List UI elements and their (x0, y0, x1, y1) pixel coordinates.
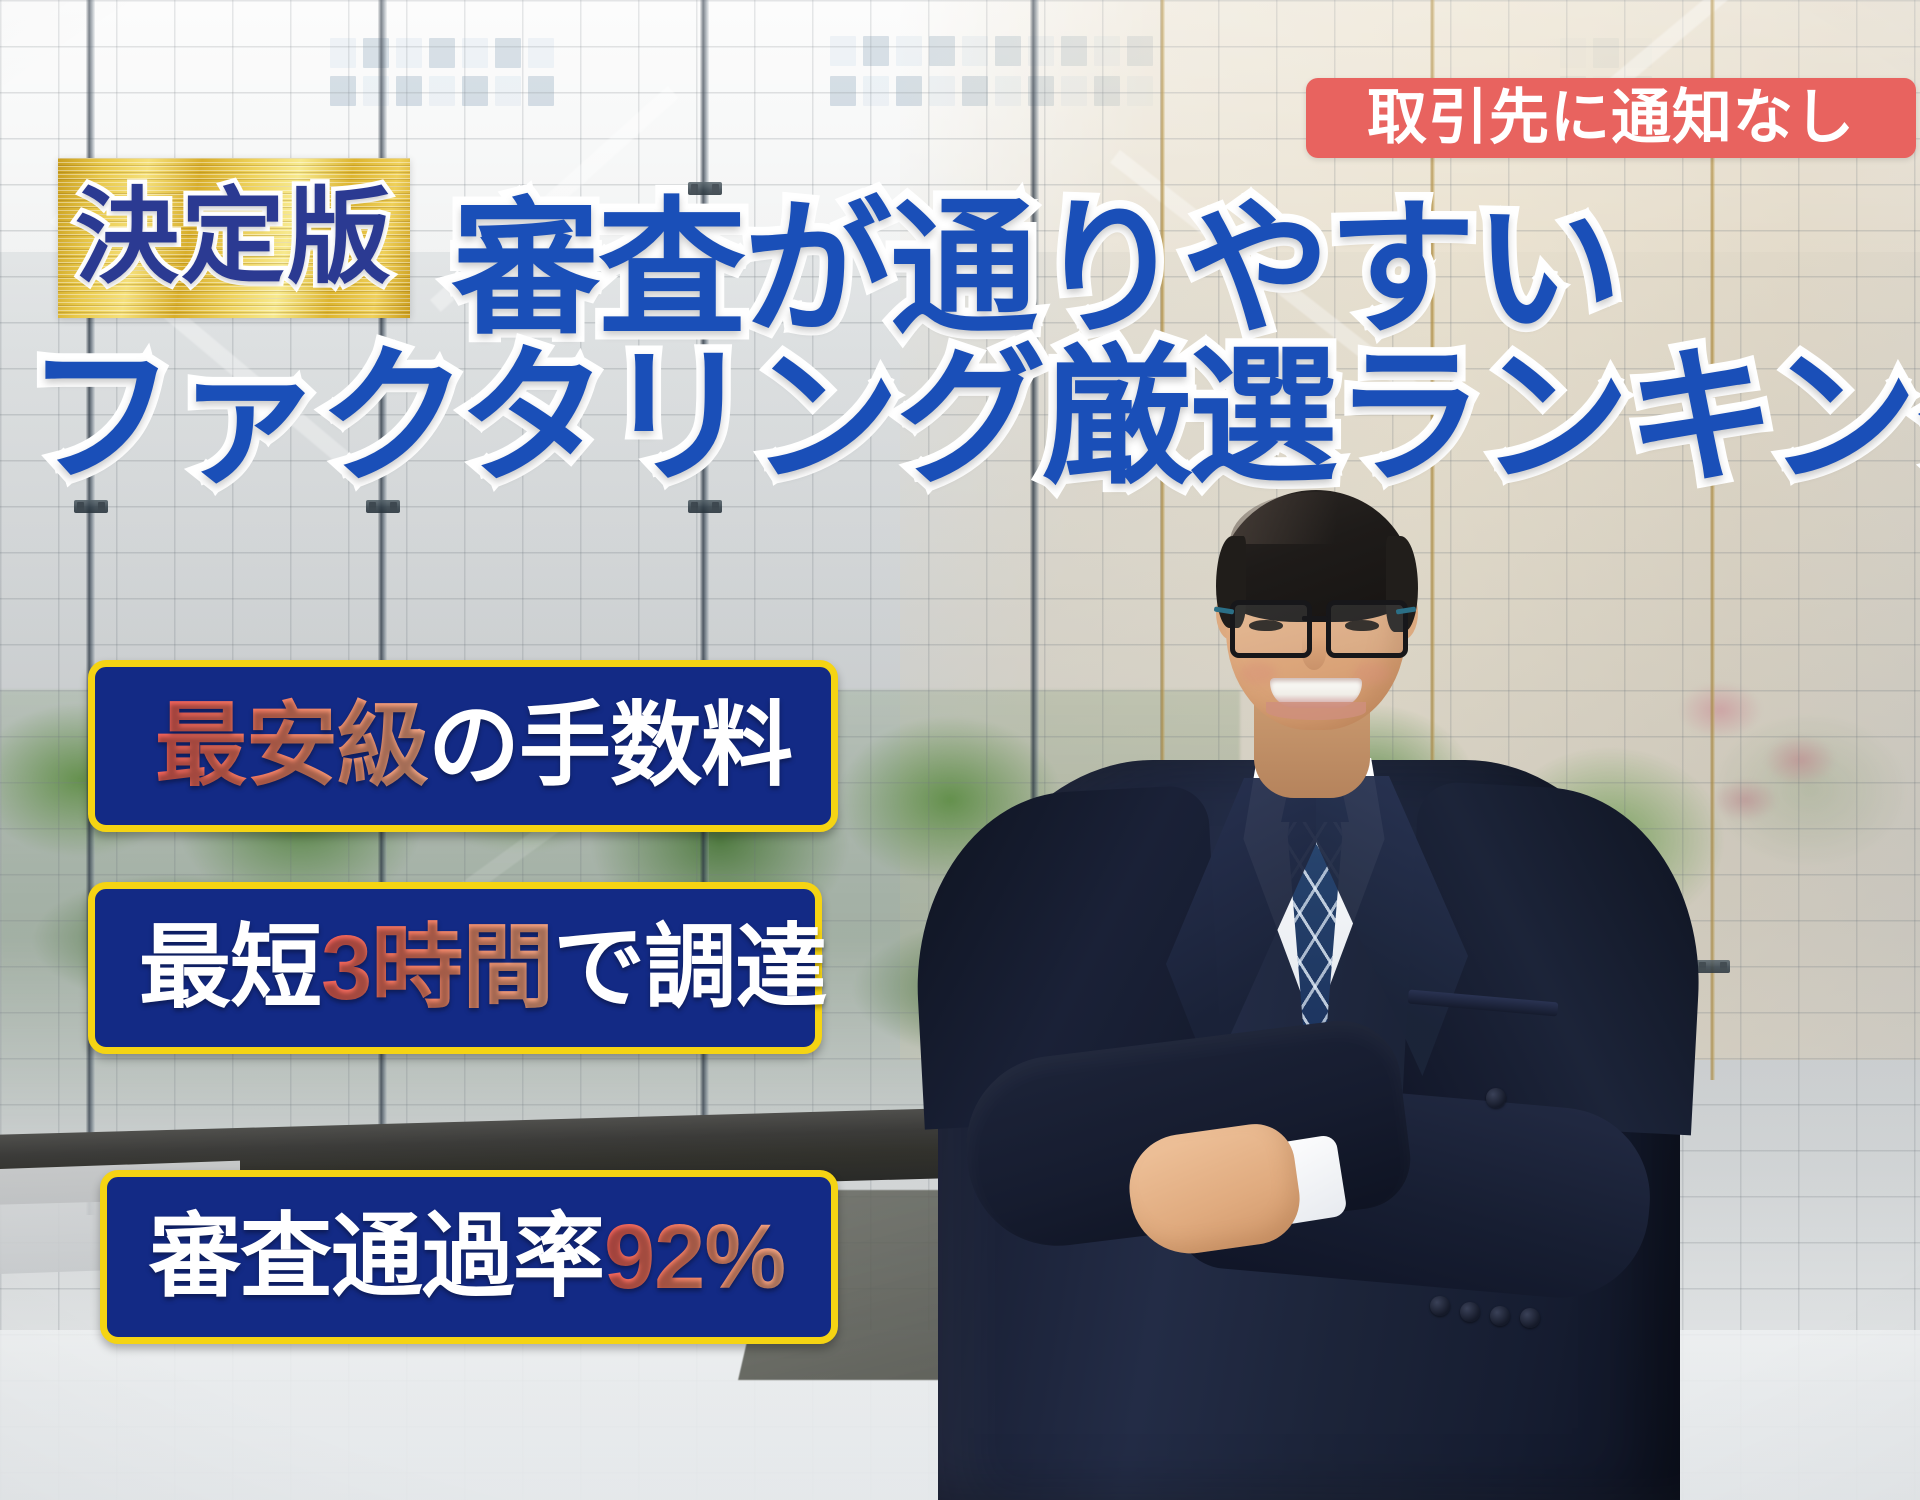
sleeve-button (1490, 1306, 1510, 1326)
feature-text-fee: 最安級の手数料 (155, 700, 792, 792)
businessman-photo (930, 440, 1690, 1500)
feature-box-fee: 最安級の手数料 (88, 660, 838, 832)
feature-highlight-fee: 最安級 (155, 695, 428, 797)
suit-button (1486, 1088, 1506, 1108)
feature-highlight-approval: 92% (604, 1206, 785, 1308)
notice-badge-label: 取引先に通知なし (1367, 88, 1855, 148)
feature-highlight-speed: 3時間 (321, 917, 553, 1019)
lower-lip (1266, 702, 1366, 720)
glasses-lens-left (1230, 600, 1312, 658)
feature-text-speed: 最短3時間で調達 (139, 922, 826, 1014)
feature-box-speed: 最短3時間で調達 (88, 882, 822, 1054)
feature-rest-fee: の手数料 (428, 695, 792, 797)
sleeve-button (1520, 1308, 1540, 1328)
sleeve-button (1430, 1296, 1450, 1316)
notice-badge: 取引先に通知なし (1306, 78, 1916, 158)
feature-prefix-speed: 最短 (139, 917, 321, 1019)
gold-badge: 決定版 (58, 158, 410, 318)
sleeve-button (1460, 1302, 1480, 1322)
headline-line-1: 審査が通りやすい (452, 196, 1620, 344)
gold-badge-label: 決定版 (75, 186, 393, 290)
feature-rest-speed: で調達 (553, 917, 826, 1019)
feature-box-approval: 審査通過率92% (100, 1170, 838, 1344)
feature-text-approval: 審査通過率92% (149, 1211, 785, 1303)
glasses-bridge (1302, 616, 1328, 621)
headline-line-2: ファクタリング厳選ランキング (26, 342, 1920, 492)
feature-prefix-approval: 審査通過率 (149, 1206, 604, 1308)
banner-root: 決定版 取引先に通知なし 審査が通りやすい ファクタリング厳選ランキング 最安級… (0, 0, 1920, 1500)
